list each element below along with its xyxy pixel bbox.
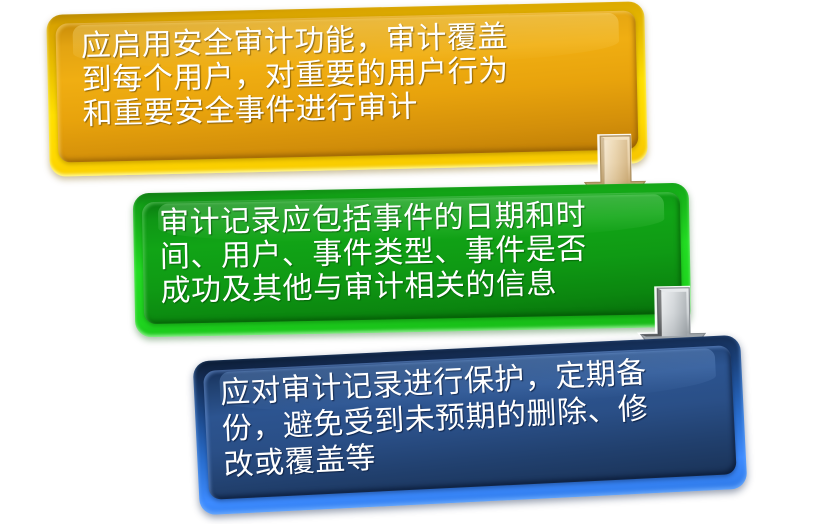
slide-canvas: 应启用安全审计功能，审计覆盖 到每个用户，对重要的用户行为 和重要安全事件进行审…: [0, 0, 816, 524]
callout-text-audit-record-content: 审计记录应包括事件的日期和时 间、用户、事件类型、事件是否 成功及其他与审计相关…: [159, 197, 669, 309]
callout-box-audit-record-content[interactable]: 审计记录应包括事件的日期和时 间、用户、事件类型、事件是否 成功及其他与审计相关…: [133, 183, 692, 338]
callout-box-audit-enable[interactable]: 应启用安全审计功能，审计覆盖 到每个用户，对重要的用户行为 和重要安全事件进行审…: [46, 1, 648, 177]
callout-box-audit-record-protection[interactable]: 应对审计记录进行保护，定期备 份，避免受到未预期的删除、修 改或覆盖等: [193, 335, 748, 516]
callout-text-audit-enable: 应启用安全审计功能，审计覆盖 到每个用户，对重要的用户行为 和重要安全事件进行审…: [81, 18, 621, 132]
